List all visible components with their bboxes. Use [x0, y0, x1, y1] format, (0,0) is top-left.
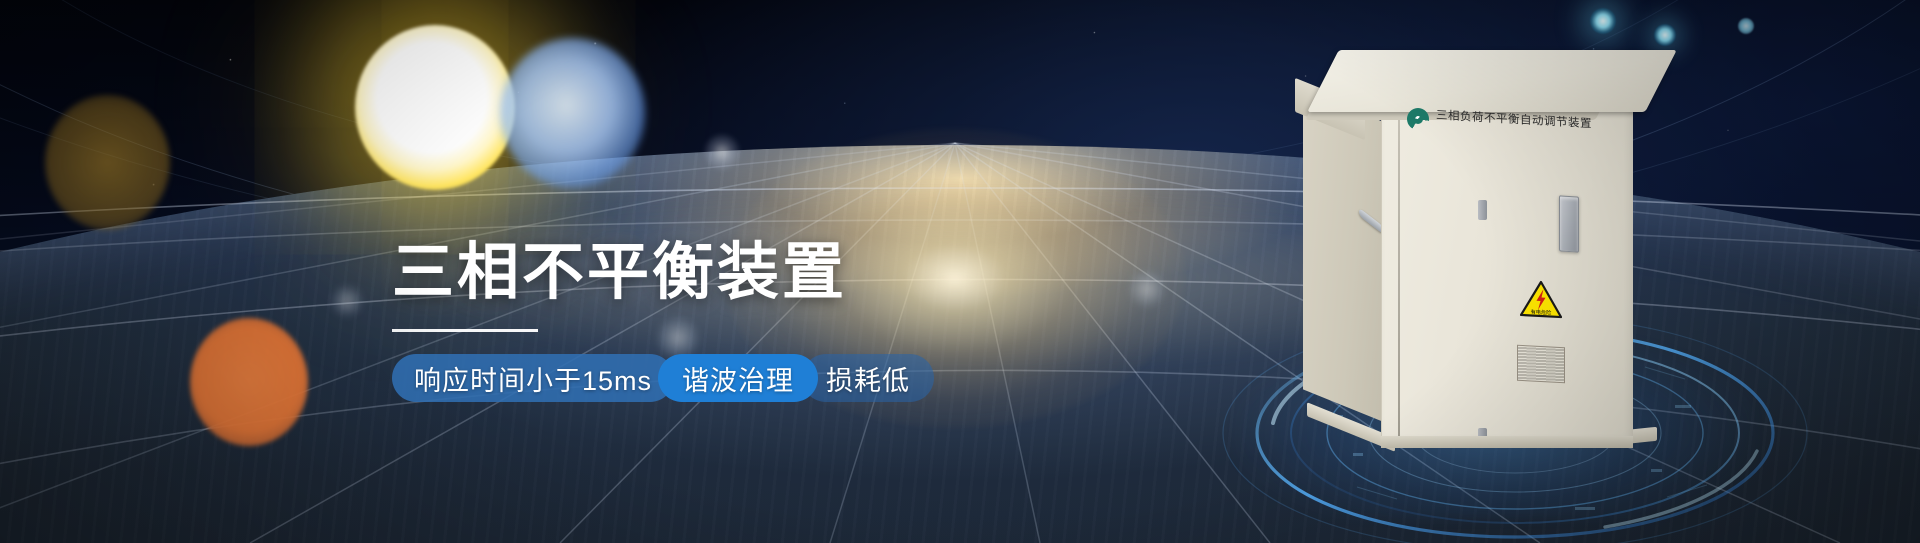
hero-copy: 三相不平衡装置 响应时间小于15ms 谐波治理 损耗低 — [392, 240, 1112, 402]
electrical-hazard-icon: 有电危险 — [1520, 279, 1562, 319]
cabinet-door-handle[interactable] — [1559, 195, 1579, 252]
feature-tag-harmonic-control[interactable]: 谐波治理 — [658, 354, 818, 402]
cabinet-side-latch — [1359, 208, 1383, 234]
hero-banner: 三相负荷不平衡自动调节装置 有电危险 三相不平衡装置 响应时间小于15ms 谐波… — [0, 0, 1920, 543]
cabinet-side-panel — [1303, 89, 1385, 422]
product-cabinet: 三相负荷不平衡自动调节装置 有电危险 — [1295, 28, 1715, 498]
cabinet-base-rail — [1381, 436, 1633, 448]
title-divider — [392, 329, 538, 332]
cabinet-vent-grille — [1517, 345, 1565, 384]
company-logo-icon — [1407, 108, 1429, 130]
cabinet-nameplate: 三相负荷不平衡自动调节装置 — [1407, 108, 1592, 130]
cabinet-product-name: 三相负荷不平衡自动调节装置 — [1436, 107, 1592, 132]
feature-tag-low-loss[interactable]: 损耗低 — [802, 354, 934, 402]
cabinet-hinge — [1478, 200, 1487, 220]
feature-tag-list: 响应时间小于15ms 谐波治理 损耗低 — [392, 354, 1112, 402]
cabinet-roof-top — [1307, 50, 1677, 112]
cabinet-front-door — [1381, 88, 1633, 440]
page-title: 三相不平衡装置 — [392, 240, 1112, 305]
feature-tag-response-time[interactable]: 响应时间小于15ms — [392, 354, 674, 402]
